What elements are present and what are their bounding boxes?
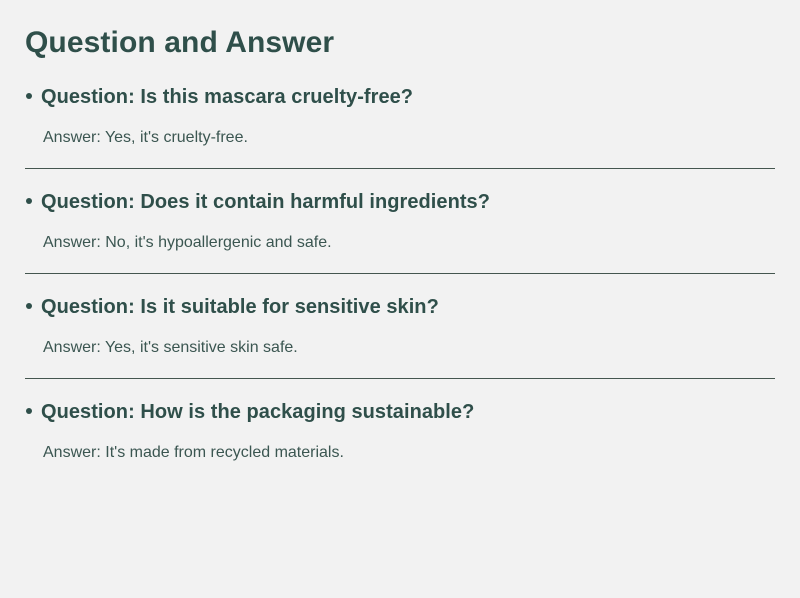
qa-list: Question: Is this mascara cruelty-free? … xyxy=(25,84,775,463)
page-title: Question and Answer xyxy=(25,0,775,62)
bullet-dot-icon xyxy=(26,303,32,309)
qa-divider xyxy=(25,273,775,274)
qa-answer: Answer: No, it's hypoallergenic and safe… xyxy=(41,233,775,253)
question-answer-page: Question and Answer Question: Is this ma… xyxy=(0,0,800,598)
list-item: Question: Is it suitable for sensitive s… xyxy=(25,294,775,379)
bullet-dot-icon xyxy=(26,198,32,204)
qa-divider xyxy=(25,378,775,379)
bullet-dot-icon xyxy=(26,408,32,414)
qa-question: Question: Is it suitable for sensitive s… xyxy=(41,294,775,320)
qa-answer: Answer: Yes, it's cruelty-free. xyxy=(41,128,775,148)
list-item: Question: Does it contain harmful ingred… xyxy=(25,189,775,274)
qa-answer: Answer: It's made from recycled material… xyxy=(41,443,775,463)
list-item: Question: Is this mascara cruelty-free? … xyxy=(25,84,775,169)
list-item: Question: How is the packaging sustainab… xyxy=(25,399,775,463)
qa-question: Question: Is this mascara cruelty-free? xyxy=(41,84,775,110)
qa-divider xyxy=(25,168,775,169)
qa-answer: Answer: Yes, it's sensitive skin safe. xyxy=(41,338,775,358)
qa-question: Question: Does it contain harmful ingred… xyxy=(41,189,775,215)
bullet-dot-icon xyxy=(26,93,32,99)
qa-question: Question: How is the packaging sustainab… xyxy=(41,399,775,425)
